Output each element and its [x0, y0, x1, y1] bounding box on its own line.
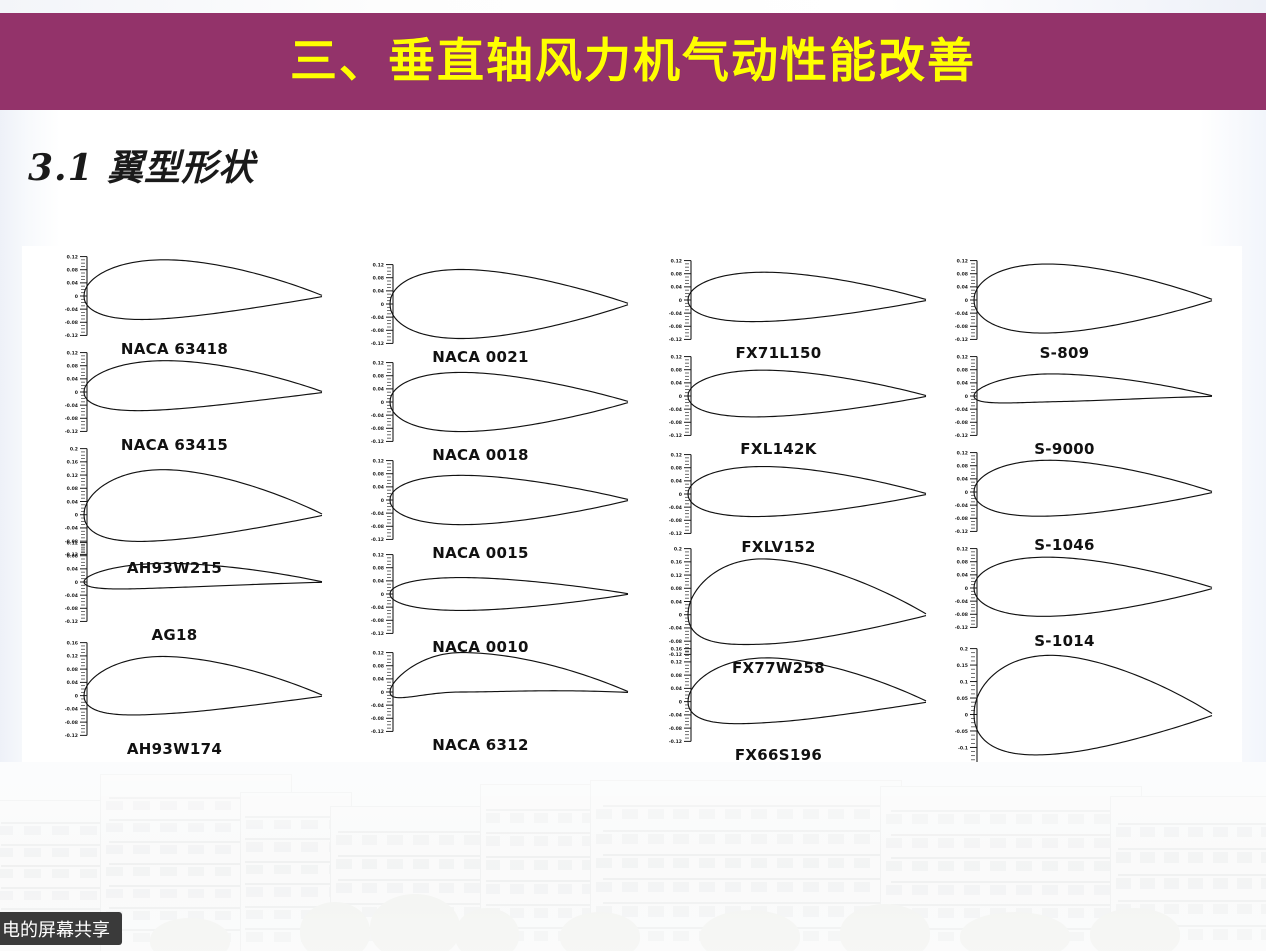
svg-text:0.08: 0.08 — [67, 486, 78, 492]
photo-window — [106, 823, 123, 832]
photo-window — [1016, 838, 1032, 848]
photo-window — [24, 891, 41, 900]
photo-window — [413, 883, 429, 893]
svg-text:0.04: 0.04 — [957, 477, 968, 483]
svg-text:-0.08: -0.08 — [371, 524, 384, 530]
svg-text:0.04: 0.04 — [957, 381, 968, 387]
photo-window — [188, 823, 205, 832]
svg-text:0.12: 0.12 — [671, 354, 682, 360]
photo-window — [188, 845, 205, 854]
svg-text:-0.04: -0.04 — [371, 511, 384, 517]
photo-window — [215, 845, 232, 854]
photo-window — [938, 932, 954, 942]
airfoil-profile-plot: 0.120.080.040-0.04-0.08-0.12 — [328, 548, 633, 640]
svg-text:0: 0 — [965, 712, 968, 718]
svg-text:-0.04: -0.04 — [65, 593, 78, 599]
svg-text:-0.12: -0.12 — [65, 619, 78, 625]
svg-text:0.04: 0.04 — [67, 377, 78, 383]
airfoil-cell-naca-0015: 0.120.080.040-0.04-0.08-0.12 NACA 0015 — [328, 454, 633, 562]
svg-text:0: 0 — [679, 394, 682, 400]
photo-window — [486, 836, 501, 846]
photo-window — [673, 834, 689, 844]
airfoil-profile-plot: 0.120.080.040-0.04-0.08-0.12 — [22, 250, 327, 342]
svg-text:0.04: 0.04 — [957, 285, 968, 291]
svg-text:-0.08: -0.08 — [371, 328, 384, 334]
photo-window — [990, 861, 1006, 871]
photo-window — [464, 883, 480, 893]
photo-window — [301, 865, 318, 875]
photo-window — [1116, 878, 1131, 889]
photo-window — [80, 869, 97, 878]
photo-window — [964, 838, 980, 848]
photo-tree-3 — [455, 908, 519, 951]
photo-window — [1016, 861, 1032, 871]
svg-text:0.05: 0.05 — [957, 696, 968, 702]
photo-tree-2 — [370, 894, 460, 951]
svg-text:0.04: 0.04 — [671, 686, 682, 692]
photo-window — [301, 842, 318, 852]
photo-window — [486, 884, 501, 894]
photo-window — [274, 820, 291, 830]
photo-floor-line — [891, 810, 1130, 812]
svg-text:0.12: 0.12 — [957, 546, 968, 552]
photo-window — [534, 931, 549, 941]
photo-window — [188, 889, 205, 898]
photo-window — [699, 834, 715, 844]
photo-window — [274, 887, 291, 897]
airfoil-cell-ag18: 0.120.080.040-0.04-0.08-0.12 AG18 — [22, 536, 327, 644]
photo-window — [725, 834, 741, 844]
photo-window — [558, 908, 573, 918]
airfoil-profile-plot: 0.160.120.080.040-0.04-0.08-0.12 — [22, 636, 327, 742]
photo-window — [964, 908, 980, 918]
photo-window — [246, 887, 263, 897]
photo-window — [1164, 904, 1179, 915]
photo-window — [938, 861, 954, 871]
photo-floor-line — [603, 805, 888, 807]
photo-window — [777, 834, 793, 844]
section-subheading: 3.1 翼型形状 — [28, 139, 255, 191]
svg-text:0.08: 0.08 — [373, 664, 384, 670]
svg-text:0.16: 0.16 — [671, 646, 682, 652]
svg-text:0.2: 0.2 — [674, 546, 682, 552]
photo-window — [413, 859, 429, 869]
svg-text:0.12: 0.12 — [373, 458, 384, 464]
airfoil-profile-plot: 0.160.120.080.040-0.04-0.08-0.12 — [626, 642, 931, 748]
photo-window — [803, 809, 819, 819]
photo-window — [854, 858, 870, 868]
svg-text:0.12: 0.12 — [373, 650, 384, 656]
photo-window — [160, 823, 177, 832]
airfoil-cell-s-809: 0.120.080.040-0.04-0.08-0.12 S-809 — [912, 254, 1217, 362]
photo-window — [673, 809, 689, 819]
photo-window — [1094, 814, 1110, 824]
photo-window — [486, 813, 501, 823]
photo-window — [912, 838, 928, 848]
photo-window — [133, 933, 150, 942]
svg-text:0.2: 0.2 — [70, 446, 78, 452]
photo-window — [80, 848, 97, 857]
svg-text:0.08: 0.08 — [957, 560, 968, 566]
photo-window — [673, 882, 689, 892]
photo-window — [1164, 878, 1179, 889]
photo-window — [1068, 932, 1084, 942]
photo-window — [725, 882, 741, 892]
svg-text:0: 0 — [381, 592, 384, 598]
svg-text:-0.04: -0.04 — [669, 407, 682, 413]
photo-window — [1068, 861, 1084, 871]
photo-window — [215, 889, 232, 898]
airfoil-label: AH93W174 — [22, 740, 327, 758]
photo-window — [246, 932, 263, 942]
svg-text:0.04: 0.04 — [67, 281, 78, 287]
photo-window — [803, 906, 819, 916]
photo-window — [106, 801, 123, 810]
svg-text:0: 0 — [75, 294, 78, 300]
svg-text:-0.08: -0.08 — [65, 416, 78, 422]
photo-window — [1188, 904, 1203, 915]
photo-window — [534, 860, 549, 870]
photo-window — [387, 859, 403, 869]
photo-window — [964, 814, 980, 824]
photo-window — [1116, 852, 1131, 863]
photo-window — [133, 889, 150, 898]
photo-window — [52, 869, 69, 878]
photo-floor-line — [603, 854, 888, 856]
screen-share-label: 电的屏幕共享 — [2, 916, 110, 942]
svg-text:-0.04: -0.04 — [955, 407, 968, 413]
photo-window — [387, 883, 403, 893]
photo-window — [215, 867, 232, 876]
svg-text:0.12: 0.12 — [67, 350, 78, 356]
photo-window — [699, 809, 715, 819]
airfoil-cell-fx71l150: 0.120.080.040-0.04-0.08-0.12 FX71L150 — [626, 254, 931, 362]
svg-text:0.12: 0.12 — [671, 660, 682, 666]
airfoil-profile-plot: 0.120.080.040-0.04-0.08-0.12 — [912, 350, 1217, 442]
airfoil-cell-naca-6312: 0.120.080.040-0.04-0.08-0.12 NACA 6312 — [328, 646, 633, 754]
photo-window — [215, 823, 232, 832]
svg-text:-0.04: -0.04 — [371, 413, 384, 419]
photo-window — [964, 885, 980, 895]
airfoil-profile-plot: 0.120.080.040-0.04-0.08-0.12 — [626, 254, 931, 346]
svg-text:0.04: 0.04 — [373, 289, 384, 295]
photo-window — [510, 860, 525, 870]
airfoil-profile-plot: 0.120.080.040-0.04-0.08-0.12 — [626, 448, 931, 540]
photo-window — [854, 882, 870, 892]
photo-window — [24, 848, 41, 857]
photo-window — [1261, 904, 1266, 915]
svg-text:0.04: 0.04 — [671, 285, 682, 291]
photo-window — [1116, 827, 1131, 838]
svg-text:-0.08: -0.08 — [65, 720, 78, 726]
svg-text:-0.12: -0.12 — [65, 733, 78, 739]
photo-window — [133, 801, 150, 810]
svg-text:-0.12: -0.12 — [371, 631, 384, 637]
svg-text:-0.04: -0.04 — [371, 315, 384, 321]
svg-text:-0.04: -0.04 — [65, 307, 78, 313]
photo-window — [336, 835, 352, 845]
svg-text:0.04: 0.04 — [373, 677, 384, 683]
svg-text:0.12: 0.12 — [957, 450, 968, 456]
photo-window — [1042, 885, 1058, 895]
photo-window — [1140, 827, 1155, 838]
photo-floor-line — [891, 834, 1130, 836]
photo-window — [828, 809, 844, 819]
photo-window — [622, 809, 638, 819]
svg-text:-0.12: -0.12 — [669, 337, 682, 343]
photo-window — [699, 906, 715, 916]
svg-text:0: 0 — [381, 498, 384, 504]
svg-text:-0.12: -0.12 — [371, 341, 384, 347]
photo-window — [673, 858, 689, 868]
photo-window — [534, 908, 549, 918]
svg-text:0.16: 0.16 — [67, 460, 78, 466]
svg-text:0.15: 0.15 — [957, 663, 968, 669]
svg-text:-0.08: -0.08 — [955, 516, 968, 522]
svg-text:-0.05: -0.05 — [955, 729, 968, 735]
photo-window — [558, 813, 573, 823]
photo-window — [803, 858, 819, 868]
photo-window — [725, 858, 741, 868]
photo-window — [938, 885, 954, 895]
photo-window — [622, 906, 638, 916]
photo-window — [938, 838, 954, 848]
svg-text:0: 0 — [679, 492, 682, 498]
photo-window — [80, 891, 97, 900]
photo-window — [486, 860, 501, 870]
photo-window — [1164, 852, 1179, 863]
photo-floor-line — [486, 880, 596, 882]
photo-window — [648, 882, 664, 892]
svg-text:0.08: 0.08 — [671, 586, 682, 592]
svg-text:0: 0 — [75, 693, 78, 699]
svg-text:0.04: 0.04 — [67, 680, 78, 686]
photo-window — [133, 911, 150, 920]
svg-text:0: 0 — [965, 298, 968, 304]
svg-text:0.08: 0.08 — [67, 268, 78, 274]
svg-text:0.12: 0.12 — [67, 540, 78, 546]
photo-window — [673, 906, 689, 916]
svg-text:0.12: 0.12 — [373, 262, 384, 268]
photo-window — [1237, 878, 1252, 889]
photo-window — [464, 859, 480, 869]
svg-text:0.04: 0.04 — [671, 479, 682, 485]
photo-window — [274, 910, 291, 920]
photo-window — [1094, 861, 1110, 871]
svg-text:0.04: 0.04 — [373, 387, 384, 393]
svg-text:0.04: 0.04 — [373, 485, 384, 491]
photo-window — [828, 882, 844, 892]
svg-text:-0.12: -0.12 — [669, 531, 682, 537]
svg-text:0.04: 0.04 — [67, 567, 78, 573]
svg-text:-0.08: -0.08 — [955, 324, 968, 330]
photo-window — [1164, 827, 1179, 838]
photo-floor-line — [891, 904, 1130, 906]
photo-window — [215, 801, 232, 810]
svg-text:0: 0 — [965, 490, 968, 496]
photo-window — [106, 889, 123, 898]
airfoil-cell-fx66s196: 0.160.120.080.040-0.04-0.08-0.12 FX66S19… — [626, 642, 931, 764]
airfoil-profile-plot: 0.120.080.040-0.04-0.08-0.12 — [22, 536, 327, 628]
svg-text:-0.12: -0.12 — [955, 625, 968, 631]
photo-window — [1016, 814, 1032, 824]
photo-window — [1188, 827, 1203, 838]
airfoil-cell-naca-63415: 0.120.080.040-0.04-0.08-0.12 NACA 63415 — [22, 346, 327, 454]
slide-title-text: 三、垂直轴风力机气动性能改善 — [290, 38, 976, 85]
photo-window — [1261, 827, 1266, 838]
svg-text:0.12: 0.12 — [373, 552, 384, 558]
svg-text:0: 0 — [381, 690, 384, 696]
photo-tree-8 — [1090, 908, 1180, 951]
photo-window — [160, 867, 177, 876]
photo-window — [1188, 852, 1203, 863]
photo-window — [246, 910, 263, 920]
svg-text:0.08: 0.08 — [67, 364, 78, 370]
svg-text:-0.08: -0.08 — [65, 606, 78, 612]
photo-window — [510, 813, 525, 823]
airfoil-cell-naca-0010: 0.120.080.040-0.04-0.08-0.12 NACA 0010 — [328, 548, 633, 656]
photo-window — [274, 842, 291, 852]
svg-text:-0.12: -0.12 — [669, 433, 682, 439]
svg-text:0: 0 — [75, 513, 78, 519]
photo-window — [938, 908, 954, 918]
svg-text:0.12: 0.12 — [957, 258, 968, 264]
svg-text:-0.04: -0.04 — [371, 605, 384, 611]
slide-canvas: 三、垂直轴风力机气动性能改善 3.1 翼型形状 0.120.080.040-0.… — [0, 0, 1266, 951]
svg-text:0.12: 0.12 — [67, 254, 78, 260]
airfoil-cell-s-9000: 0.120.080.040-0.04-0.08-0.12 S-9000 — [912, 350, 1217, 458]
photo-window — [886, 861, 902, 871]
photo-floor-line — [1118, 900, 1266, 902]
photo-window — [622, 882, 638, 892]
svg-text:0.12: 0.12 — [671, 452, 682, 458]
svg-text:-0.04: -0.04 — [65, 526, 78, 532]
airfoil-profile-plot: 0.120.080.040-0.04-0.08-0.12 — [626, 350, 931, 442]
photo-window — [1042, 838, 1058, 848]
photo-window — [912, 861, 928, 871]
svg-text:-0.12: -0.12 — [371, 729, 384, 735]
photo-window — [0, 891, 13, 900]
photo-floor-line — [1118, 848, 1266, 850]
svg-text:-0.08: -0.08 — [669, 726, 682, 732]
photo-window — [534, 836, 549, 846]
photo-window — [886, 885, 902, 895]
photo-floor-line — [603, 878, 888, 880]
photo-window — [215, 911, 232, 920]
screen-share-badge[interactable]: 电的屏幕共享 — [0, 912, 122, 945]
photo-window — [699, 882, 715, 892]
photo-window — [534, 813, 549, 823]
photo-window — [828, 906, 844, 916]
svg-text:0: 0 — [965, 586, 968, 592]
photo-window — [1016, 885, 1032, 895]
photo-floor-line — [338, 831, 504, 833]
svg-text:0: 0 — [965, 394, 968, 400]
photo-window — [990, 885, 1006, 895]
photo-window — [464, 835, 480, 845]
photo-window — [246, 820, 263, 830]
photo-window — [1094, 838, 1110, 848]
svg-text:0.12: 0.12 — [373, 360, 384, 366]
photo-window — [413, 835, 429, 845]
photo-window — [912, 885, 928, 895]
photo-window — [188, 801, 205, 810]
photo-window — [1188, 878, 1203, 889]
photo-window — [0, 848, 13, 857]
photo-window — [1261, 929, 1266, 940]
svg-text:-0.08: -0.08 — [669, 518, 682, 524]
svg-text:-0.12: -0.12 — [371, 439, 384, 445]
photo-floor-line — [891, 857, 1130, 859]
photo-floor-line — [603, 830, 888, 832]
campus-photo-watermark — [0, 762, 1266, 951]
photo-floor-line — [486, 832, 596, 834]
photo-window — [362, 835, 378, 845]
svg-text:0.08: 0.08 — [373, 566, 384, 572]
airfoil-column-3: 0.120.080.040-0.04-0.08-0.12 FX71L150 0.… — [626, 246, 926, 765]
photo-window — [439, 859, 455, 869]
photo-window — [648, 809, 664, 819]
photo-window — [1213, 929, 1228, 940]
photo-window — [558, 884, 573, 894]
photo-window — [751, 809, 767, 819]
svg-text:0.16: 0.16 — [67, 640, 78, 646]
photo-window — [387, 835, 403, 845]
photo-window — [133, 845, 150, 854]
svg-text:0.08: 0.08 — [671, 368, 682, 374]
photo-window — [80, 826, 97, 835]
svg-text:0.08: 0.08 — [67, 667, 78, 673]
photo-window — [558, 836, 573, 846]
svg-text:0.12: 0.12 — [67, 654, 78, 660]
svg-text:-0.04: -0.04 — [65, 707, 78, 713]
svg-text:0.08: 0.08 — [957, 272, 968, 278]
photo-window — [52, 848, 69, 857]
svg-text:0.08: 0.08 — [671, 673, 682, 679]
airfoil-cell-s-1014: 0.120.080.040-0.04-0.08-0.12 S-1014 — [912, 542, 1217, 650]
photo-window — [106, 845, 123, 854]
svg-text:-0.08: -0.08 — [371, 618, 384, 624]
svg-text:0.12: 0.12 — [67, 473, 78, 479]
photo-floor-line — [1118, 874, 1266, 876]
photo-window — [1068, 814, 1084, 824]
photo-floor-line — [486, 856, 596, 858]
svg-text:-0.04: -0.04 — [955, 311, 968, 317]
svg-text:-0.08: -0.08 — [371, 426, 384, 432]
svg-text:-0.04: -0.04 — [669, 311, 682, 317]
svg-text:0.08: 0.08 — [373, 374, 384, 380]
svg-text:-0.04: -0.04 — [955, 599, 968, 605]
airfoil-cell-naca-0021: 0.120.080.040-0.04-0.08-0.12 NACA 0021 — [328, 258, 633, 366]
svg-text:0.08: 0.08 — [373, 276, 384, 282]
svg-text:0.1: 0.1 — [960, 679, 968, 685]
svg-text:-0.04: -0.04 — [669, 626, 682, 632]
svg-text:-0.04: -0.04 — [669, 505, 682, 511]
photo-window — [274, 865, 291, 875]
airfoil-profile-plot: 0.120.080.040-0.04-0.08-0.12 — [328, 356, 633, 448]
photo-window — [828, 858, 844, 868]
photo-window — [828, 834, 844, 844]
airfoil-column-4: 0.120.080.040-0.04-0.08-0.12 S-809 0.120… — [912, 246, 1212, 765]
svg-text:0: 0 — [381, 400, 384, 406]
svg-text:0: 0 — [75, 390, 78, 396]
airfoil-cell-naca-0018: 0.120.080.040-0.04-0.08-0.12 NACA 0018 — [328, 356, 633, 464]
photo-window — [725, 809, 741, 819]
photo-window — [1213, 852, 1228, 863]
photo-window — [673, 931, 689, 941]
airfoil-column-2: 0.120.080.040-0.04-0.08-0.12 NACA 0021 0… — [328, 246, 628, 765]
photo-window — [622, 834, 638, 844]
